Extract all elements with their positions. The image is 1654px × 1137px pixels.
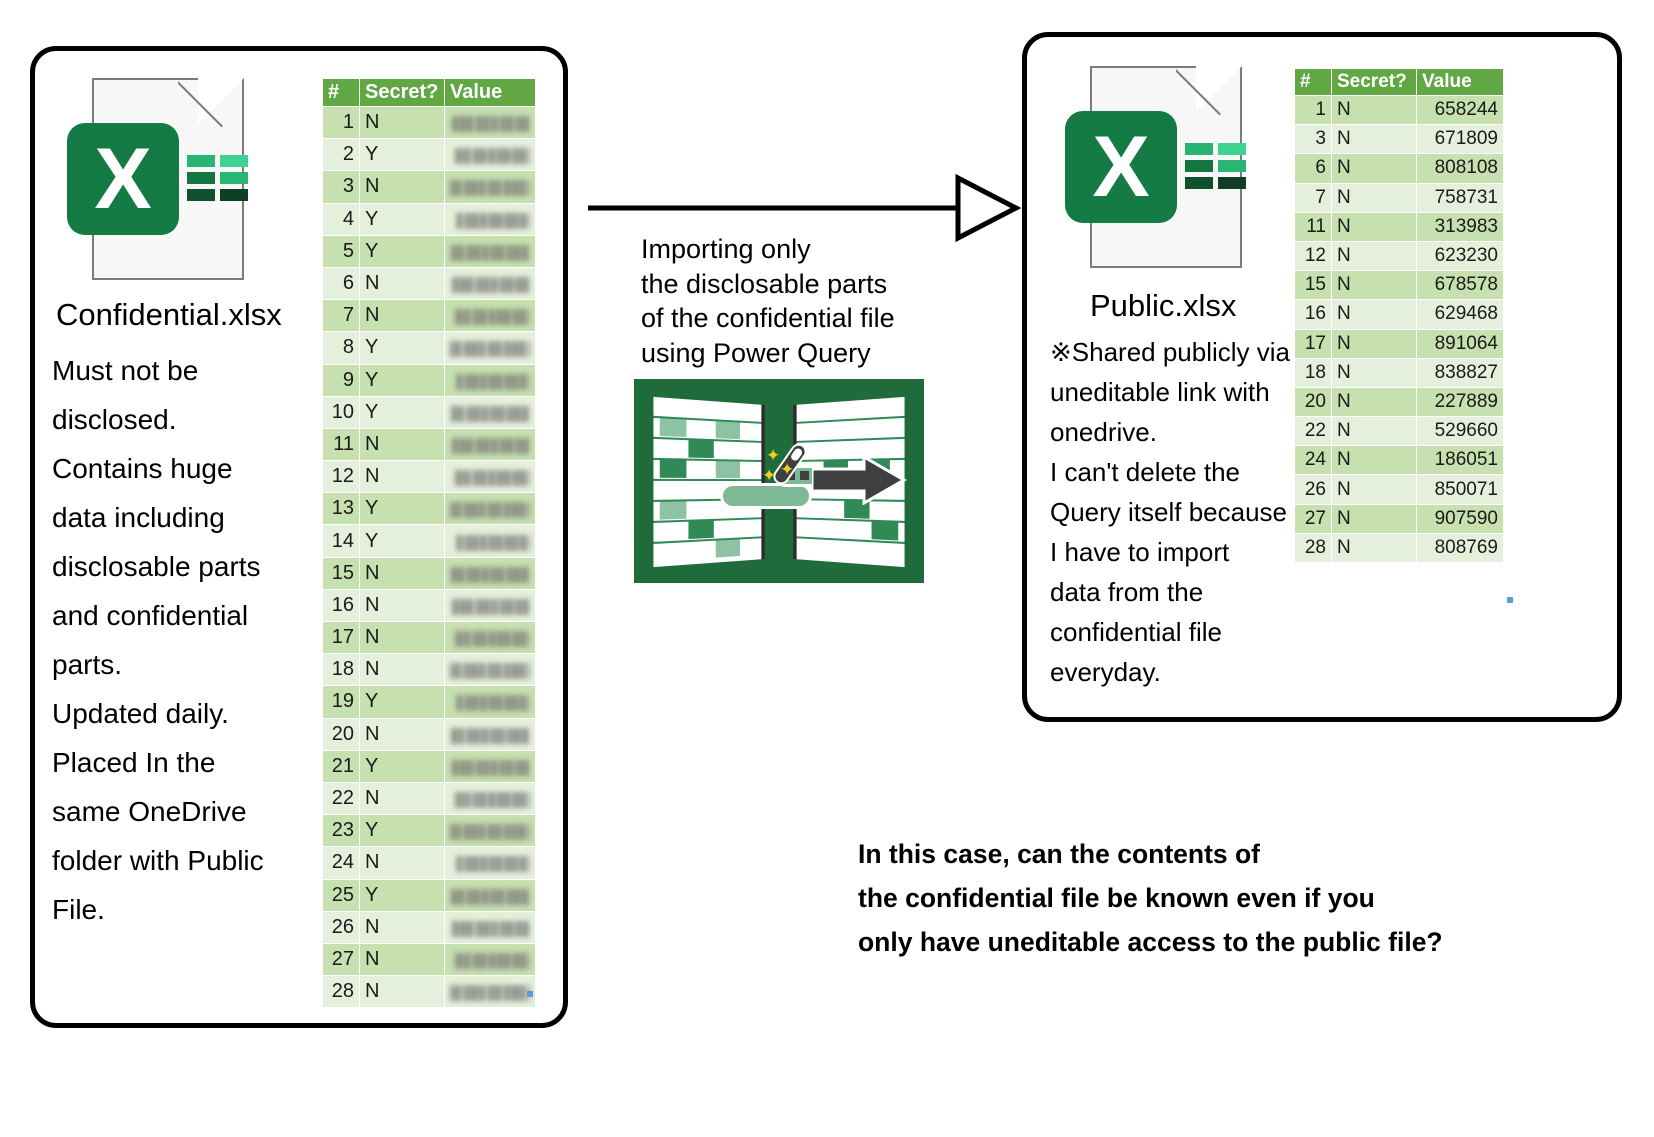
cell-secret: Y xyxy=(360,365,444,396)
cell-value xyxy=(445,525,535,556)
cell-number: 10 xyxy=(323,397,359,428)
cell-number: 23 xyxy=(323,815,359,846)
cell-value: 623230 xyxy=(1417,242,1503,270)
cell-secret: Y xyxy=(360,525,444,556)
table-row: 28N808769 xyxy=(1295,534,1503,562)
note-line: and confidential xyxy=(52,591,322,640)
table-row: 28N xyxy=(323,976,535,1007)
cell-number: 11 xyxy=(1295,213,1331,241)
redacted-value xyxy=(451,728,530,744)
column-header-number: # xyxy=(1295,69,1331,95)
cell-number: 20 xyxy=(323,719,359,750)
cell-number: 16 xyxy=(323,590,359,621)
cell-value xyxy=(445,654,535,685)
cell-value: 808769 xyxy=(1417,534,1503,562)
cell-secret: N xyxy=(1332,154,1416,182)
cell-secret: Y xyxy=(360,815,444,846)
cell-value xyxy=(445,686,535,717)
cell-value xyxy=(445,751,535,782)
table-row: 18N838827 xyxy=(1295,359,1503,387)
table-row: 13Y xyxy=(323,493,535,524)
cell-number: 4 xyxy=(323,204,359,235)
description-line: using Power Query xyxy=(641,336,895,371)
note-line: onedrive. xyxy=(1050,412,1295,452)
description-line: the disclosable parts xyxy=(641,267,895,302)
pq-arrow-icon xyxy=(812,455,912,505)
redacted-value xyxy=(450,824,530,840)
redacted-value xyxy=(450,502,530,518)
column-header-value: Value xyxy=(445,79,535,106)
table-row: 6N xyxy=(323,268,535,299)
cell-number: 12 xyxy=(323,461,359,492)
cell-value xyxy=(445,236,535,267)
cell-value xyxy=(445,365,535,396)
cell-secret: N xyxy=(360,847,444,878)
cell-value: 808108 xyxy=(1417,154,1503,182)
cell-number: 14 xyxy=(323,525,359,556)
table-row: 3N xyxy=(323,171,535,202)
cell-value xyxy=(445,944,535,975)
table-row: 20N227889 xyxy=(1295,388,1503,416)
cell-value: 313983 xyxy=(1417,213,1503,241)
cell-secret: N xyxy=(360,719,444,750)
table-row: 26N850071 xyxy=(1295,475,1503,503)
cell-number: 22 xyxy=(1295,417,1331,445)
note-line: everyday. xyxy=(1050,652,1295,692)
note-line: disclosed. xyxy=(52,395,322,444)
cell-number: 15 xyxy=(323,558,359,589)
table-row: 19Y xyxy=(323,686,535,717)
note-line: Placed In the xyxy=(52,738,322,787)
cell-secret: N xyxy=(1332,359,1416,387)
cell-secret: N xyxy=(1332,417,1416,445)
note-line: data from the xyxy=(1050,572,1295,612)
table-row: 23Y xyxy=(323,815,535,846)
cell-secret: N xyxy=(360,558,444,589)
table-row: 1N658244 xyxy=(1295,96,1503,124)
table-row: 24N xyxy=(323,847,535,878)
closing-question: In this case, can the contents of the co… xyxy=(858,832,1443,964)
cell-value: 678578 xyxy=(1417,271,1503,299)
table-row: 17N xyxy=(323,622,535,653)
table-row: 3N671809 xyxy=(1295,125,1503,153)
note-line: parts. xyxy=(52,640,322,689)
redacted-value xyxy=(451,406,530,422)
cell-number: 5 xyxy=(323,236,359,267)
redacted-value xyxy=(450,663,530,679)
infographic-canvas: X Confidential.xlsx Must not be disclose… xyxy=(0,0,1654,1137)
note-line: ※Shared publicly via xyxy=(1050,332,1295,372)
cell-value xyxy=(445,429,535,460)
cell-number: 18 xyxy=(323,654,359,685)
cell-secret: N xyxy=(360,912,444,943)
note-line: confidential file xyxy=(1050,612,1295,652)
redacted-value xyxy=(451,245,530,261)
cell-value xyxy=(445,397,535,428)
note-line: uneditable link with xyxy=(1050,372,1295,412)
confidential-data-table: # Secret? Value 1N2Y3N4Y5Y6N7N8Y9Y10Y11N… xyxy=(322,78,536,1008)
redacted-value xyxy=(454,148,530,164)
cell-secret: N xyxy=(360,268,444,299)
redacted-value xyxy=(456,374,530,390)
cell-number: 28 xyxy=(1295,534,1331,562)
page-fold-icon xyxy=(198,76,246,124)
note-line: disclosable parts xyxy=(52,542,322,591)
confidential-table-body: 1N2Y3N4Y5Y6N7N8Y9Y10Y11N12N13Y14Y15N16N1… xyxy=(323,107,535,1007)
sheet-resize-handle[interactable] xyxy=(1507,597,1513,603)
table-row: 6N808108 xyxy=(1295,154,1503,182)
excel-x-badge: X xyxy=(1065,111,1177,223)
cell-value xyxy=(445,493,535,524)
excel-file-icon-public: X xyxy=(1090,66,1242,268)
cell-secret: N xyxy=(360,171,444,202)
table-row: 22N529660 xyxy=(1295,417,1503,445)
redacted-value xyxy=(452,921,530,937)
sparkle-icon: ✦ xyxy=(780,461,794,478)
table-row: 9Y xyxy=(323,365,535,396)
cell-secret: N xyxy=(1332,388,1416,416)
table-row: 11N313983 xyxy=(1295,213,1503,241)
cell-secret: N xyxy=(360,300,444,331)
table-row: 21Y xyxy=(323,751,535,782)
excel-file-icon-confidential: X xyxy=(92,78,244,280)
cell-value xyxy=(445,783,535,814)
column-header-number: # xyxy=(323,79,359,106)
cell-value xyxy=(445,912,535,943)
cell-secret: N xyxy=(360,590,444,621)
description-line: Importing only xyxy=(641,232,895,267)
cell-secret: N xyxy=(1332,475,1416,503)
table-row: 10Y xyxy=(323,397,535,428)
sheet-resize-handle[interactable] xyxy=(527,991,533,997)
cell-number: 2 xyxy=(323,139,359,170)
cell-secret: Y xyxy=(360,204,444,235)
cell-number: 13 xyxy=(323,493,359,524)
confidential-file-caption: Confidential.xlsx xyxy=(56,297,282,333)
table-row: 12N xyxy=(323,461,535,492)
cell-secret: Y xyxy=(360,686,444,717)
table-row: 27N xyxy=(323,944,535,975)
cell-number: 9 xyxy=(323,365,359,396)
redacted-value xyxy=(454,792,530,808)
cell-value: 758731 xyxy=(1417,184,1503,212)
cell-number: 12 xyxy=(1295,242,1331,270)
column-header-value: Value xyxy=(1417,69,1503,95)
note-line: I can't delete the xyxy=(1050,452,1295,492)
cell-number: 19 xyxy=(323,686,359,717)
public-data-table: # Secret? Value 1N6582443N6718096N808108… xyxy=(1294,68,1504,563)
cell-secret: N xyxy=(1332,330,1416,358)
cell-value xyxy=(445,590,535,621)
cell-secret: Y xyxy=(360,751,444,782)
table-row: 5Y xyxy=(323,236,535,267)
table-header-row: # Secret? Value xyxy=(323,79,535,106)
cell-value: 186051 xyxy=(1417,446,1503,474)
cell-secret: Y xyxy=(360,236,444,267)
cell-number: 18 xyxy=(1295,359,1331,387)
redacted-value xyxy=(452,277,530,293)
cell-secret: N xyxy=(360,107,444,138)
cell-value: 629468 xyxy=(1417,300,1503,328)
process-description: Importing only the disclosable parts of … xyxy=(641,232,895,370)
table-row: 12N623230 xyxy=(1295,242,1503,270)
table-row: 22N xyxy=(323,783,535,814)
table-row: 16N xyxy=(323,590,535,621)
cell-secret: N xyxy=(360,783,444,814)
note-line: I have to import xyxy=(1050,532,1295,572)
table-header-row: # Secret? Value xyxy=(1295,69,1503,95)
confidential-file-notes: Must not be disclosed. Contains huge dat… xyxy=(52,346,322,934)
cell-secret: N xyxy=(1332,96,1416,124)
cell-secret: N xyxy=(1332,184,1416,212)
cell-value: 907590 xyxy=(1417,505,1503,533)
cell-secret: Y xyxy=(360,493,444,524)
sparkle-icon: ✦ xyxy=(766,447,780,464)
cell-value xyxy=(445,107,535,138)
table-row: 4Y xyxy=(323,204,535,235)
cell-number: 17 xyxy=(323,622,359,653)
redacted-value xyxy=(451,567,530,583)
table-row: 15N678578 xyxy=(1295,271,1503,299)
cell-value xyxy=(445,558,535,589)
cell-number: 16 xyxy=(1295,300,1331,328)
redacted-value xyxy=(450,180,530,196)
cell-value xyxy=(445,847,535,878)
excel-bars-icon xyxy=(187,155,250,205)
cell-number: 27 xyxy=(323,944,359,975)
cell-secret: N xyxy=(1332,446,1416,474)
table-row: 24N186051 xyxy=(1295,446,1503,474)
redacted-value xyxy=(450,985,530,1001)
public-file-notes: ※Shared publicly via uneditable link wit… xyxy=(1050,332,1295,692)
table-row: 18N xyxy=(323,654,535,685)
cell-secret: N xyxy=(360,622,444,653)
column-header-secret: Secret? xyxy=(1332,69,1416,95)
cell-value: 850071 xyxy=(1417,475,1503,503)
table-row: 7N xyxy=(323,300,535,331)
redacted-value xyxy=(452,599,530,615)
table-row: 14Y xyxy=(323,525,535,556)
cell-secret: N xyxy=(360,944,444,975)
table-row: 8Y xyxy=(323,332,535,363)
note-line: Contains huge xyxy=(52,444,322,493)
note-line: Updated daily. xyxy=(52,689,322,738)
cell-value: 658244 xyxy=(1417,96,1503,124)
cell-number: 7 xyxy=(323,300,359,331)
redacted-value xyxy=(450,341,530,357)
redacted-value xyxy=(456,856,530,872)
cell-secret: N xyxy=(360,976,444,1007)
cell-number: 6 xyxy=(1295,154,1331,182)
cell-secret: N xyxy=(1332,300,1416,328)
cell-number: 17 xyxy=(1295,330,1331,358)
redacted-value xyxy=(454,470,530,486)
cell-number: 7 xyxy=(1295,184,1331,212)
cell-value: 891064 xyxy=(1417,330,1503,358)
cell-secret: N xyxy=(1332,534,1416,562)
cell-secret: Y xyxy=(360,397,444,428)
table-row: 11N xyxy=(323,429,535,460)
note-line: data including xyxy=(52,493,322,542)
cell-secret: N xyxy=(1332,213,1416,241)
table-row: 20N xyxy=(323,719,535,750)
table-row: 17N891064 xyxy=(1295,330,1503,358)
cell-value xyxy=(445,880,535,911)
cell-value xyxy=(445,139,535,170)
note-line: Query itself because xyxy=(1050,492,1295,532)
table-row: 16N629468 xyxy=(1295,300,1503,328)
cell-number: 26 xyxy=(1295,475,1331,503)
cell-value: 671809 xyxy=(1417,125,1503,153)
redacted-value xyxy=(452,116,530,132)
cell-secret: Y xyxy=(360,332,444,363)
cell-number: 28 xyxy=(323,976,359,1007)
cell-number: 15 xyxy=(1295,271,1331,299)
table-row: 15N xyxy=(323,558,535,589)
cell-number: 11 xyxy=(323,429,359,460)
cell-number: 25 xyxy=(323,880,359,911)
cell-number: 21 xyxy=(323,751,359,782)
cell-number: 6 xyxy=(323,268,359,299)
cell-value: 227889 xyxy=(1417,388,1503,416)
cell-secret: N xyxy=(360,461,444,492)
power-query-illustration-icon: ✦ ✦ ✦ xyxy=(634,379,924,583)
cell-value xyxy=(445,268,535,299)
cell-number: 26 xyxy=(323,912,359,943)
table-row: 2Y xyxy=(323,139,535,170)
cell-value xyxy=(445,622,535,653)
redacted-value xyxy=(456,213,530,229)
cell-secret: N xyxy=(1332,125,1416,153)
redacted-value xyxy=(456,535,530,551)
excel-x-badge: X xyxy=(67,123,179,235)
table-row: 26N xyxy=(323,912,535,943)
cell-value xyxy=(445,461,535,492)
cell-value xyxy=(445,976,535,1007)
table-row: 1N xyxy=(323,107,535,138)
cell-value xyxy=(445,204,535,235)
cell-value xyxy=(445,171,535,202)
cell-secret: N xyxy=(1332,505,1416,533)
public-file-caption: Public.xlsx xyxy=(1090,288,1236,324)
cell-number: 3 xyxy=(323,171,359,202)
cell-secret: Y xyxy=(360,139,444,170)
cell-value xyxy=(445,719,535,750)
redacted-value xyxy=(454,953,530,969)
pq-source-sheet-icon xyxy=(653,397,761,567)
redacted-value xyxy=(454,309,530,325)
description-line: of the confidential file xyxy=(641,301,895,336)
cell-number: 22 xyxy=(323,783,359,814)
column-header-secret: Secret? xyxy=(360,79,444,106)
cell-secret: N xyxy=(360,654,444,685)
public-table-body: 1N6582443N6718096N8081087N75873111N31398… xyxy=(1295,96,1503,562)
cell-value xyxy=(445,300,535,331)
note-line: same OneDrive xyxy=(52,787,322,836)
redacted-value xyxy=(456,695,530,711)
cell-number: 27 xyxy=(1295,505,1331,533)
cell-secret: N xyxy=(1332,271,1416,299)
question-line: the confidential file be known even if y… xyxy=(858,876,1443,920)
table-row: 7N758731 xyxy=(1295,184,1503,212)
cell-value xyxy=(445,815,535,846)
cell-number: 3 xyxy=(1295,125,1331,153)
note-line: Must not be xyxy=(52,346,322,395)
cell-secret: Y xyxy=(360,880,444,911)
cell-value xyxy=(445,332,535,363)
redacted-value xyxy=(451,889,530,905)
cell-value: 529660 xyxy=(1417,417,1503,445)
redacted-value xyxy=(452,438,530,454)
cell-value: 838827 xyxy=(1417,359,1503,387)
table-row: 27N907590 xyxy=(1295,505,1503,533)
cell-number: 1 xyxy=(1295,96,1331,124)
redacted-value xyxy=(454,631,530,647)
redacted-value xyxy=(452,760,530,776)
question-line: In this case, can the contents of xyxy=(858,832,1443,876)
note-line: folder with Public xyxy=(52,836,322,885)
cell-number: 1 xyxy=(323,107,359,138)
table-row: 25Y xyxy=(323,880,535,911)
cell-number: 24 xyxy=(1295,446,1331,474)
excel-bars-icon xyxy=(1185,143,1248,193)
question-line: only have uneditable access to the publi… xyxy=(858,920,1443,964)
cell-number: 8 xyxy=(323,332,359,363)
cell-number: 24 xyxy=(323,847,359,878)
sparkle-icon: ✦ xyxy=(762,467,776,484)
cell-secret: N xyxy=(1332,242,1416,270)
cell-number: 20 xyxy=(1295,388,1331,416)
pq-dot xyxy=(800,471,809,480)
cell-secret: N xyxy=(360,429,444,460)
page-fold-icon xyxy=(1196,64,1244,112)
note-line: File. xyxy=(52,885,322,934)
